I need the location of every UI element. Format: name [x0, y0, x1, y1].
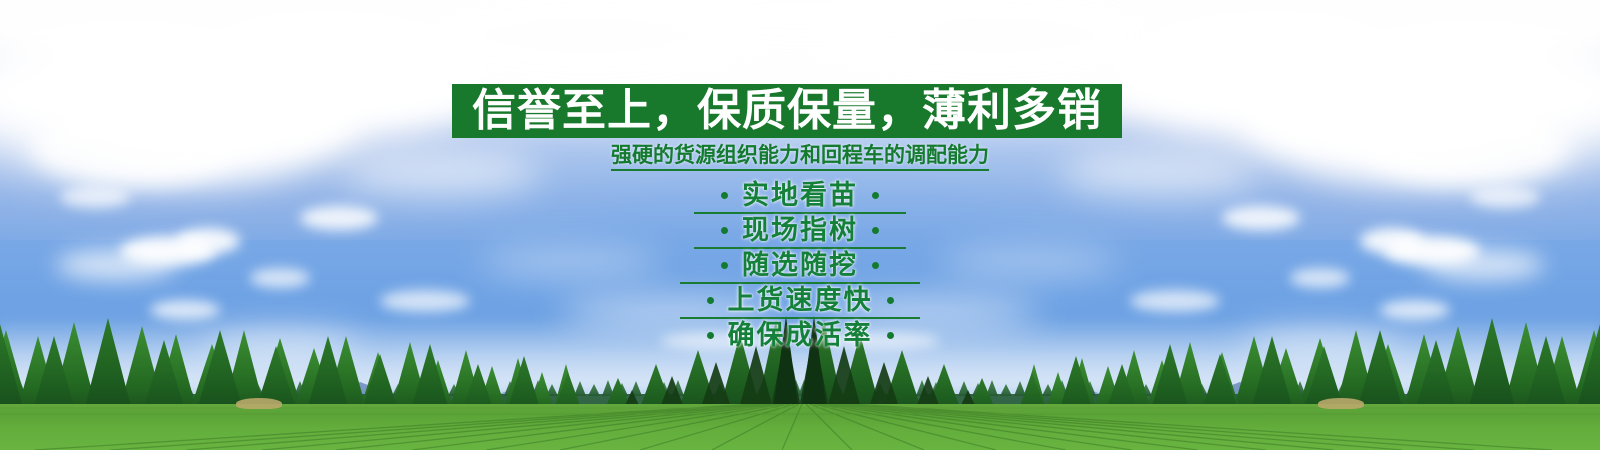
feature-item-2: 现场指树 — [0, 213, 1600, 248]
bullet-dot-icon — [707, 332, 714, 339]
subtitle-text: 强硬的货源组织能力和回程车的调配能力 — [611, 144, 989, 171]
bullet-dot-icon — [872, 227, 879, 234]
feature-item-5: 确保成活率 — [0, 318, 1600, 353]
feature-label: 确保成活率 — [728, 322, 873, 349]
subtitle-row: 强硬的货源组织能力和回程车的调配能力 — [0, 144, 1600, 171]
hay-mound-right — [1318, 398, 1364, 409]
bullet-dot-icon — [887, 297, 894, 304]
headline-banner: 信誉至上，保质保量，薄利多销 — [452, 84, 1122, 138]
bullet-dot-icon — [721, 262, 728, 269]
feature-label: 上货速度快 — [728, 287, 873, 314]
feature-item-3: 随选随挖 — [0, 248, 1600, 283]
feature-item-4: 上货速度快 — [0, 283, 1600, 318]
bullet-dot-icon — [707, 297, 714, 304]
bullet-dot-icon — [887, 332, 894, 339]
bullet-dot-icon — [872, 262, 879, 269]
feature-item-1: 实地看苗 — [0, 178, 1600, 213]
feature-label: 实地看苗 — [742, 182, 858, 209]
hay-mound-left — [236, 398, 282, 409]
field-furrows — [0, 404, 1600, 450]
feature-label: 随选随挖 — [742, 252, 858, 279]
bullet-dot-icon — [872, 192, 879, 199]
headline-text: 信誉至上，保质保量，薄利多销 — [472, 89, 1102, 133]
feature-list: 实地看苗 现场指树 随选随挖 上货速度快 — [0, 178, 1600, 353]
promo-banner: 信誉至上，保质保量，薄利多销 强硬的货源组织能力和回程车的调配能力 实地看苗 现… — [0, 0, 1600, 450]
bullet-dot-icon — [721, 192, 728, 199]
feature-label: 现场指树 — [742, 217, 858, 244]
bullet-dot-icon — [721, 227, 728, 234]
